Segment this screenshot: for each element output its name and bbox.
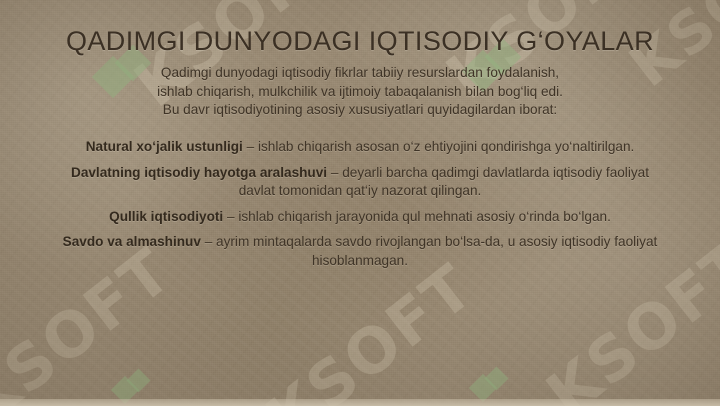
point-dash: –	[247, 139, 255, 154]
intro-paragraph: Qadimgi dunyodagi iqtisodiy fikrlar tabi…	[56, 64, 664, 120]
point-lead: Natural xo‘jalik ustunligi	[86, 139, 243, 154]
point-lead: Qullik iqtisodiyoti	[109, 209, 223, 224]
point-body: ishlab chiqarish asosan o‘z ehtiyojini q…	[258, 139, 634, 154]
point-lead: Davlatning iqtisodiy hayotga aralashuvi	[71, 165, 327, 180]
point-dash: –	[205, 234, 213, 249]
slide-content: QADIMGI DUNYODAGI IQTISODIY G‘OYALAR Qad…	[0, 0, 720, 406]
point-dash: –	[227, 209, 235, 224]
key-points-list: Natural xo‘jalik ustunligi – ishlab chiq…	[56, 138, 664, 270]
list-item: Savdo va almashinuv – ayrim mintaqalarda…	[56, 233, 664, 270]
point-dash: –	[331, 165, 339, 180]
intro-line: ishlab chiqarish, mulkchilik va ijtimoiy…	[56, 83, 664, 102]
point-lead: Savdo va almashinuv	[63, 234, 201, 249]
intro-line: Qadimgi dunyodagi iqtisodiy fikrlar tabi…	[56, 64, 664, 83]
point-body: ayrim mintaqalarda savdo rivojlangan bo‘…	[216, 234, 657, 267]
intro-line: Bu davr iqtisodiyotining asosiy xususiya…	[56, 101, 664, 120]
list-item: Qullik iqtisodiyoti – ishlab chiqarish j…	[56, 208, 664, 226]
list-item: Natural xo‘jalik ustunligi – ishlab chiq…	[56, 138, 664, 156]
point-body: ishlab chiqarish jarayonida qul mehnati …	[238, 209, 611, 224]
list-item: Davlatning iqtisodiy hayotga aralashuvi …	[56, 164, 664, 201]
slide-title: QADIMGI DUNYODAGI IQTISODIY G‘OYALAR	[56, 26, 664, 58]
presentation-slide: KSOFT KSOFT KSOFT KSOFT KSOFT KSOFT QADI…	[0, 0, 720, 406]
